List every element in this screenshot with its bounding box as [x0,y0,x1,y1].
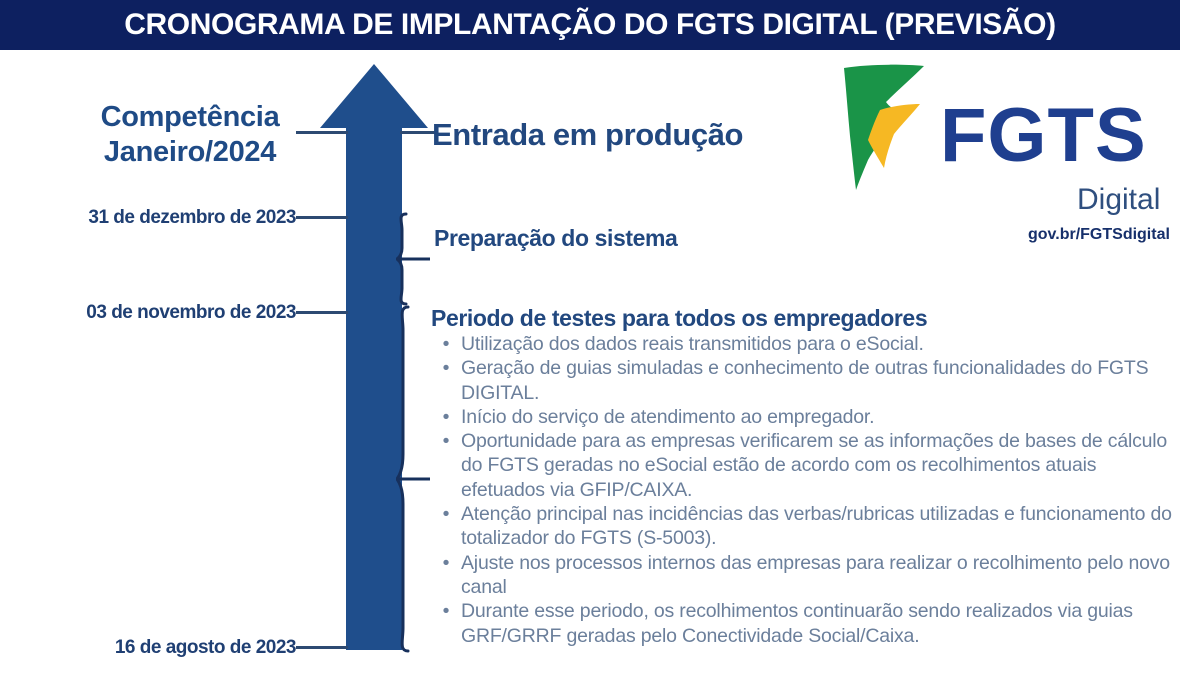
competencia-line-1: Competência [60,100,320,135]
bullet-dot-icon: • [431,599,461,623]
list-item-text: Oportunidade para as empresas verificare… [461,429,1176,502]
bullet-dot-icon: • [431,332,461,356]
bullet-dot-icon: • [431,356,461,380]
header-banner: CRONOGRAMA DE IMPLANTAÇÃO DO FGTS DIGITA… [0,0,1180,50]
list-item-text: Atenção principal nas incidências das ve… [461,502,1176,551]
list-item: •Durante esse periodo, os recolhimentos … [431,599,1176,648]
competencia-line-2: Janeiro/2024 [60,135,320,170]
bullet-dot-icon: • [431,429,461,453]
bullet-dot-icon: • [431,551,461,575]
periodo-de-testes-bullet-list: •Utilização dos dados reais transmitidos… [431,332,1176,648]
logo-sub-text: Digital [1077,185,1160,215]
connector-line-16ago2023 [296,646,348,649]
list-item: •Atenção principal nas incidências das v… [431,502,1176,551]
logo-brand-text: FGTS [940,98,1147,174]
page-title: CRONOGRAMA DE IMPLANTAÇÃO DO FGTS DIGITA… [124,8,1055,42]
brace-periodo-de-testes [396,304,430,654]
list-item: •Início do serviço de atendimento ao emp… [431,405,1176,429]
milestone-date-31-dezembro-2023: 31 de dezembro de 2023 [64,207,296,229]
list-item: •Geração de guias simuladas e conhecimen… [431,356,1176,405]
slide-canvas: CRONOGRAMA DE IMPLANTAÇÃO DO FGTS DIGITA… [0,0,1180,676]
list-item-text: Durante esse periodo, os recolhimentos c… [461,599,1176,648]
connector-line-31dez2023 [296,216,348,219]
bullet-dot-icon: • [431,405,461,429]
connector-line-03nov2023 [296,311,348,314]
milestone-date-competencia: Competência Janeiro/2024 [60,100,320,171]
list-item-text: Ajuste nos processos internos das empres… [461,551,1176,600]
list-item: •Ajuste nos processos internos das empre… [431,551,1176,600]
milestone-date-16-agosto-2023: 16 de agosto de 2023 [64,637,296,659]
list-item-text: Geração de guias simuladas e conheciment… [461,356,1176,405]
section-entrada-em-producao: Entrada em produção [432,117,743,153]
list-item: •Utilização dos dados reais transmitidos… [431,332,1176,356]
brace-preparacao-do-sistema [396,212,430,306]
bullet-dot-icon: • [431,502,461,526]
list-item-text: Utilização dos dados reais transmitidos … [461,332,1176,356]
list-item-text: Início do serviço de atendimento ao empr… [461,405,1176,429]
logo-url-text: gov.br/FGTSdigital [1028,227,1170,243]
list-item: •Oportunidade para as empresas verificar… [431,429,1176,502]
connector-line-entrada [400,131,436,134]
fgts-flag-mark [828,62,946,192]
section-preparacao-do-sistema: Preparação do sistema [434,225,677,252]
section-periodo-de-testes: Periodo de testes para todos os empregad… [431,305,927,332]
milestone-date-03-novembro-2023: 03 de novembro de 2023 [64,302,296,324]
